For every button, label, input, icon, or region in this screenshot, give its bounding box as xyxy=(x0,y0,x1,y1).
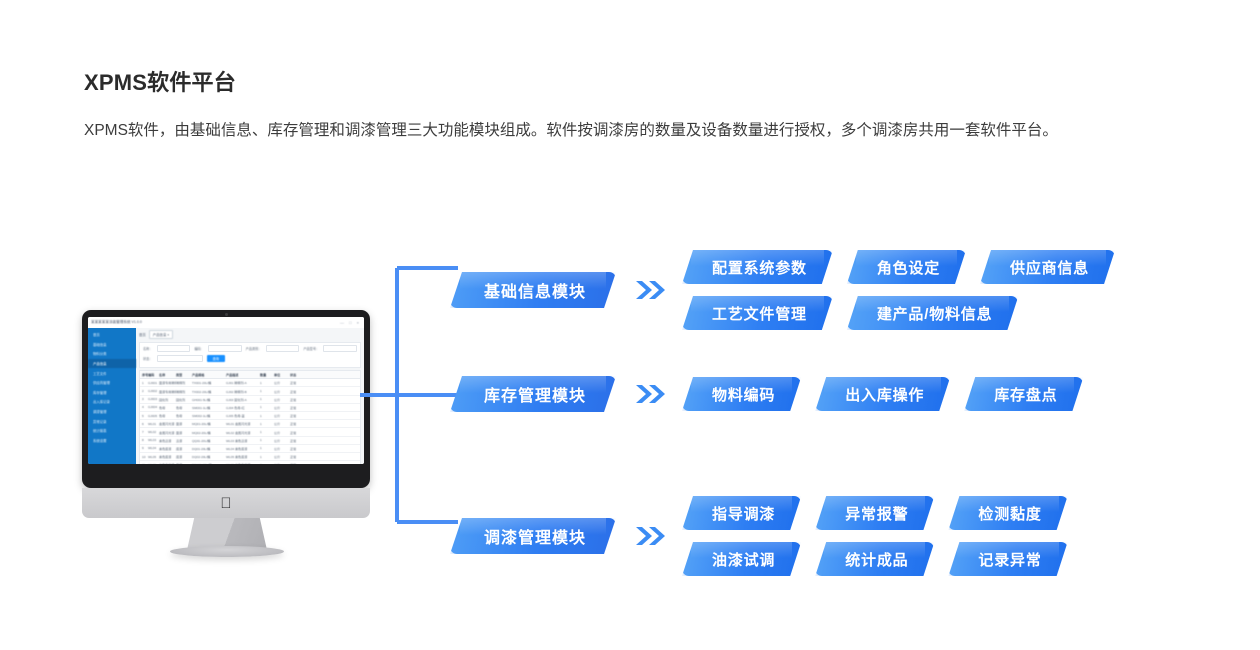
table-cell: 正常 xyxy=(290,389,358,394)
table-cell: 公斤 xyxy=(274,438,290,443)
table-cell: 稀释剂 xyxy=(176,389,192,394)
table-cell: 固化剂 xyxy=(176,397,192,402)
th-spec: 产品规格 xyxy=(192,372,226,377)
table-cell: WL02 xyxy=(148,430,159,434)
table-cell: 2 xyxy=(260,463,274,464)
dashboard-main: 首页 产品信息 × 名称： 编码： 产品类别： 产品型号： xyxy=(136,328,364,464)
table-cell: WL01 xyxy=(148,422,159,426)
th-unit: 单位 xyxy=(274,372,290,377)
module-row-paint-mixing: 调漆管理模块 指导调漆 异常报警 检测黏度 油漆试调 统计成品 记录异常 xyxy=(450,496,1068,576)
table-cell: 正常 xyxy=(290,430,358,435)
table-cell: 面漆 xyxy=(176,421,192,426)
tag-line: 物料编码 出入库操作 库存盘点 xyxy=(682,377,1083,411)
table-cell: GJ004 xyxy=(148,405,159,409)
th-type: 类型 xyxy=(176,372,192,377)
table-cell: WL05 素色底漆 xyxy=(226,454,260,459)
webcam-icon xyxy=(225,313,228,316)
table-cell: 面漆 xyxy=(176,430,192,435)
table-cell: 正常 xyxy=(290,413,358,418)
sidebar-item[interactable]: 统计报表 xyxy=(88,426,136,436)
module-chip-basic-info[interactable]: 基础信息模块 xyxy=(450,272,616,308)
table-cell: WL03 素色清漆 xyxy=(226,438,260,443)
table-cell: 色母 xyxy=(176,413,192,418)
table-cell: GJ03 固化剂-A xyxy=(226,397,260,402)
table-cell: 公斤 xyxy=(274,380,290,385)
filter-label-category: 产品类别： xyxy=(246,346,262,351)
tag-line: 工艺文件管理 建产品/物料信息 xyxy=(682,296,1115,330)
table-cell: 公斤 xyxy=(274,389,290,394)
tag-process-file-mgmt[interactable]: 工艺文件管理 xyxy=(682,296,833,330)
table-cell: 公斤 xyxy=(274,430,290,435)
table-row[interactable]: 8WL03素色清漆清漆QQ01-20L/桶WL03 素色清漆1公斤正常 xyxy=(140,437,360,445)
table-cell: WL05 xyxy=(148,455,159,459)
table-cell: 正常 xyxy=(290,397,358,402)
table-cell: GJ001 xyxy=(148,381,159,385)
table-cell: 1 xyxy=(260,381,274,385)
table-cell: WL06 白色专用漆 xyxy=(226,462,260,464)
table-cell: GJ005 xyxy=(148,414,159,418)
table-cell: 正常 xyxy=(290,446,358,451)
table-cell: 1 xyxy=(260,405,274,409)
table-cell: 稀释剂 xyxy=(176,380,192,385)
data-table: 序号 编码 名称 类型 产品规格 产品描述 数量 单位 状态 1GJ001面漆专… xyxy=(139,370,361,464)
table-cell: 素色清漆 xyxy=(159,438,176,443)
dashboard-sidebar: 首页 基础信息 物料分类 产品信息 工艺文件 供应商管理 库存管理 出入库记录 … xyxy=(88,328,136,464)
table-cell: 白色专用漆 xyxy=(159,462,176,464)
monitor-screen: 某某某某某涂装管理系统 V1.0.0 — □ × 首页 基础信息 物料分类 产品… xyxy=(88,317,364,464)
table-cell: 底漆 xyxy=(176,446,192,451)
table-cell: 面漆专用稀释剂 xyxy=(159,380,176,385)
sidebar-item[interactable]: 系统设置 xyxy=(88,436,136,446)
filter-input-model[interactable] xyxy=(323,345,357,352)
table-cell: GH001-5L/桶 xyxy=(192,397,226,402)
page-description: XPMS软件，由基础信息、库存管理和调漆管理三大功能模块组成。软件按调漆房的数量… xyxy=(84,114,1164,148)
monitor-body: 某某某某某涂装管理系统 V1.0.0 — □ × 首页 基础信息 物料分类 产品… xyxy=(82,310,370,488)
table-cell: SM002-1L/桶 xyxy=(192,413,226,418)
tag-line: 指导调漆 异常报警 检测黏度 xyxy=(682,496,1068,530)
filter-input-name[interactable] xyxy=(157,345,191,352)
sidebar-item[interactable]: 库存管理 xyxy=(88,388,136,398)
dashboard-brand: 某某某某某涂装管理系统 V1.0.0 xyxy=(91,320,142,325)
table-cell: WL02 金属闪光漆 xyxy=(226,430,260,435)
double-chevron-right-icon xyxy=(634,524,668,548)
sidebar-item-active[interactable]: 产品信息 xyxy=(88,359,136,369)
table-cell: 金属闪光漆 xyxy=(159,421,176,426)
table-cell: GJ002 xyxy=(148,389,159,393)
sidebar-item[interactable]: 调漆管理 xyxy=(88,407,136,417)
tag-group-paint-mixing: 指导调漆 异常报警 检测黏度 油漆试调 统计成品 记录异常 xyxy=(682,496,1068,576)
table-cell: 固化剂 xyxy=(159,397,176,402)
filter-input-category[interactable] xyxy=(266,345,300,352)
tag-line: 油漆试调 统计成品 记录异常 xyxy=(682,542,1068,576)
tag-group-basic-info: 配置系统参数 角色设定 供应商信息 工艺文件管理 建产品/物料信息 xyxy=(682,250,1115,330)
tag-viscosity-check[interactable]: 检测黏度 xyxy=(948,496,1067,530)
sidebar-item[interactable]: 物料分类 xyxy=(88,349,136,359)
table-cell: 色母 xyxy=(176,405,192,410)
tag-config-system-params[interactable]: 配置系统参数 xyxy=(682,250,833,284)
apple-logo-icon:  xyxy=(219,496,233,512)
table-cell: 1 xyxy=(260,397,274,401)
table-cell: 公斤 xyxy=(274,446,290,451)
table-cell: DQ02-20L/桶 xyxy=(192,454,226,459)
tag-stock-count[interactable]: 库存盘点 xyxy=(964,377,1083,411)
table-cell: WL01 金属闪光漆 xyxy=(226,421,260,426)
tag-count-products[interactable]: 统计成品 xyxy=(815,542,934,576)
tag-product-material-info[interactable]: 建产品/物料信息 xyxy=(847,296,1019,330)
table-cell: 清漆 xyxy=(176,438,192,443)
table-cell: 公斤 xyxy=(274,405,290,410)
table-cell: 素色底漆 xyxy=(159,446,176,451)
table-cell: GJ04 色母-红 xyxy=(226,405,260,410)
table-cell: GJ05 色母-蓝 xyxy=(226,413,260,418)
table-cell: TX001-20L/桶 xyxy=(192,380,226,385)
module-row-inventory: 库存管理模块 物料编码 出入库操作 库存盘点 xyxy=(450,376,1083,412)
table-cell: MQ02-20L/桶 xyxy=(192,430,226,435)
tag-group-inventory: 物料编码 出入库操作 库存盘点 xyxy=(682,377,1083,411)
table-row[interactable]: 3GJ003固化剂固化剂GH001-5L/桶GJ03 固化剂-A1公斤正常 xyxy=(140,396,360,404)
th-qty: 数量 xyxy=(260,372,274,377)
table-cell: 正常 xyxy=(290,462,358,464)
table-row[interactable]: 2GJ002面漆专用稀释剂稀释剂TX002-20L/桶GJ02 稀释剂-B1公斤… xyxy=(140,387,360,395)
sidebar-item[interactable]: 供应商管理 xyxy=(88,378,136,388)
sidebar-item[interactable]: 首页 xyxy=(88,330,136,340)
table-cell: 正常 xyxy=(290,380,358,385)
table-row[interactable]: 4GJ004色母色母SM001-1L/桶GJ04 色母-红1公斤正常 xyxy=(140,404,360,412)
th-name: 名称 xyxy=(159,372,176,377)
table-cell: WL03 xyxy=(148,438,159,442)
tag-guide-mixing[interactable]: 指导调漆 xyxy=(682,496,801,530)
tag-material-code[interactable]: 物料编码 xyxy=(682,377,801,411)
tag-paint-trial[interactable]: 油漆试调 xyxy=(682,542,801,576)
tag-abnormal-alarm[interactable]: 异常报警 xyxy=(815,496,934,530)
table-cell: 1 xyxy=(260,414,274,418)
table-cell: SM001-1L/桶 xyxy=(192,405,226,410)
th-status: 状态 xyxy=(290,372,358,377)
sidebar-item[interactable]: 异常记录 xyxy=(88,416,136,426)
table-cell: 正常 xyxy=(290,438,358,443)
module-chip-inventory[interactable]: 库存管理模块 xyxy=(450,376,616,412)
table-cell: DQ01-20L/桶 xyxy=(192,446,226,451)
table-cell: 公斤 xyxy=(274,421,290,426)
table-cell: 正常 xyxy=(290,405,358,410)
table-cell: BSY01-20L/桶 xyxy=(192,462,226,464)
table-cell: 1 xyxy=(260,455,274,459)
table-cell: GJ01 稀释剂-A xyxy=(226,380,260,385)
double-chevron-right-icon xyxy=(634,382,668,406)
table-body: 1GJ001面漆专用稀释剂稀释剂TX001-20L/桶GJ01 稀释剂-A1公斤… xyxy=(140,379,360,464)
monitor-base xyxy=(170,546,284,557)
tab-product-info[interactable]: 产品信息 × xyxy=(149,330,173,339)
table-row[interactable]: 1GJ001面漆专用稀释剂稀释剂TX001-20L/桶GJ01 稀释剂-A1公斤… xyxy=(140,379,360,387)
th-desc: 产品描述 xyxy=(226,372,260,377)
search-button[interactable]: 查询 xyxy=(207,355,225,362)
module-row-basic-info: 基础信息模块 配置系统参数 角色设定 供应商信息 工艺文件管理 建产品/物料信息 xyxy=(450,250,1115,330)
table-row[interactable]: 9WL04素色底漆底漆DQ01-20L/桶WL04 素色底漆1公斤正常 xyxy=(140,445,360,453)
table-cell: QQ01-20L/桶 xyxy=(192,438,226,443)
table-cell: 公斤 xyxy=(274,397,290,402)
tag-record-abnormal[interactable]: 记录异常 xyxy=(948,542,1067,576)
table-cell: 色母 xyxy=(159,405,176,410)
table-cell: 面漆专用稀释剂 xyxy=(159,389,176,394)
table-cell: 1 xyxy=(260,446,274,450)
table-cell: 素色底漆 xyxy=(159,454,176,459)
table-cell: 公斤 xyxy=(274,454,290,459)
double-chevron-right-icon xyxy=(634,278,668,302)
tab-home[interactable]: 首页 xyxy=(139,332,146,337)
table-cell: 1 xyxy=(260,389,274,393)
filter-label-name: 名称： xyxy=(143,346,153,351)
th-code: 编码 xyxy=(148,372,159,377)
table-cell: 正常 xyxy=(290,421,358,426)
table-row[interactable]: 10WL05素色底漆底漆DQ02-20L/桶WL05 素色底漆1公斤正常 xyxy=(140,453,360,461)
table-cell: 面漆 xyxy=(176,462,192,464)
dashboard-body: 首页 基础信息 物料分类 产品信息 工艺文件 供应商管理 库存管理 出入库记录 … xyxy=(88,328,364,464)
sidebar-item[interactable]: 出入库记录 xyxy=(88,397,136,407)
table-row[interactable]: 6WL01金属闪光漆面漆MQ01-20L/桶WL01 金属闪光漆1公斤正常 xyxy=(140,420,360,428)
table-header-row: 序号 编码 名称 类型 产品规格 产品描述 数量 单位 状态 xyxy=(140,371,360,379)
filter-label-model: 产品型号： xyxy=(303,346,319,351)
table-cell: GJ003 xyxy=(148,397,159,401)
page-title: XPMS软件平台 xyxy=(84,68,1174,98)
table-cell: 1 xyxy=(260,438,274,442)
imac-monitor: 某某某某某涂装管理系统 V1.0.0 — □ × 首页 基础信息 物料分类 产品… xyxy=(82,310,370,550)
filter-panel: 名称： 编码： 产品类别： 产品型号： 状态： 查询 xyxy=(139,342,361,368)
sidebar-item[interactable]: 工艺文件 xyxy=(88,368,136,378)
tag-line: 配置系统参数 角色设定 供应商信息 xyxy=(682,250,1115,284)
table-row[interactable]: 11WL06白色专用漆面漆BSY01-20L/桶WL06 白色专用漆2公斤正常 xyxy=(140,461,360,464)
table-cell: 1 xyxy=(260,422,274,426)
page-header: XPMS软件平台 XPMS软件，由基础信息、库存管理和调漆管理三大功能模块组成。… xyxy=(84,68,1174,148)
window-controls: — □ × xyxy=(340,320,361,325)
table-cell: 色母 xyxy=(159,413,176,418)
table-cell: 底漆 xyxy=(176,454,192,459)
tag-role-setting[interactable]: 角色设定 xyxy=(847,250,966,284)
table-cell: 1 xyxy=(260,430,274,434)
table-cell: TX002-20L/桶 xyxy=(192,389,226,394)
table-cell: WL04 素色底漆 xyxy=(226,446,260,451)
filter-input-code[interactable] xyxy=(208,345,242,352)
table-cell: GJ02 稀释剂-B xyxy=(226,389,260,394)
table-row[interactable]: 5GJ005色母色母SM002-1L/桶GJ05 色母-蓝1公斤正常 xyxy=(140,412,360,420)
table-row[interactable]: 7WL02金属闪光漆面漆MQ02-20L/桶WL02 金属闪光漆1公斤正常 xyxy=(140,428,360,436)
filter-label-code: 编码： xyxy=(194,346,204,351)
module-chip-paint-mixing[interactable]: 调漆管理模块 xyxy=(450,518,616,554)
tag-inbound-outbound[interactable]: 出入库操作 xyxy=(815,377,950,411)
table-cell: WL06 xyxy=(148,463,159,464)
table-cell: 正常 xyxy=(290,454,358,459)
table-cell: 公斤 xyxy=(274,462,290,464)
tag-supplier-info[interactable]: 供应商信息 xyxy=(980,250,1115,284)
filter-input-status[interactable] xyxy=(157,355,203,362)
table-cell: MQ01-20L/桶 xyxy=(192,421,226,426)
filter-label-status: 状态： xyxy=(143,356,153,361)
dashboard-tabs: 首页 产品信息 × xyxy=(139,330,361,339)
table-cell: WL04 xyxy=(148,446,159,450)
table-cell: 公斤 xyxy=(274,413,290,418)
dashboard-titlebar: 某某某某某涂装管理系统 V1.0.0 — □ × xyxy=(88,317,364,328)
table-cell: 金属闪光漆 xyxy=(159,430,176,435)
sidebar-item[interactable]: 基础信息 xyxy=(88,340,136,350)
